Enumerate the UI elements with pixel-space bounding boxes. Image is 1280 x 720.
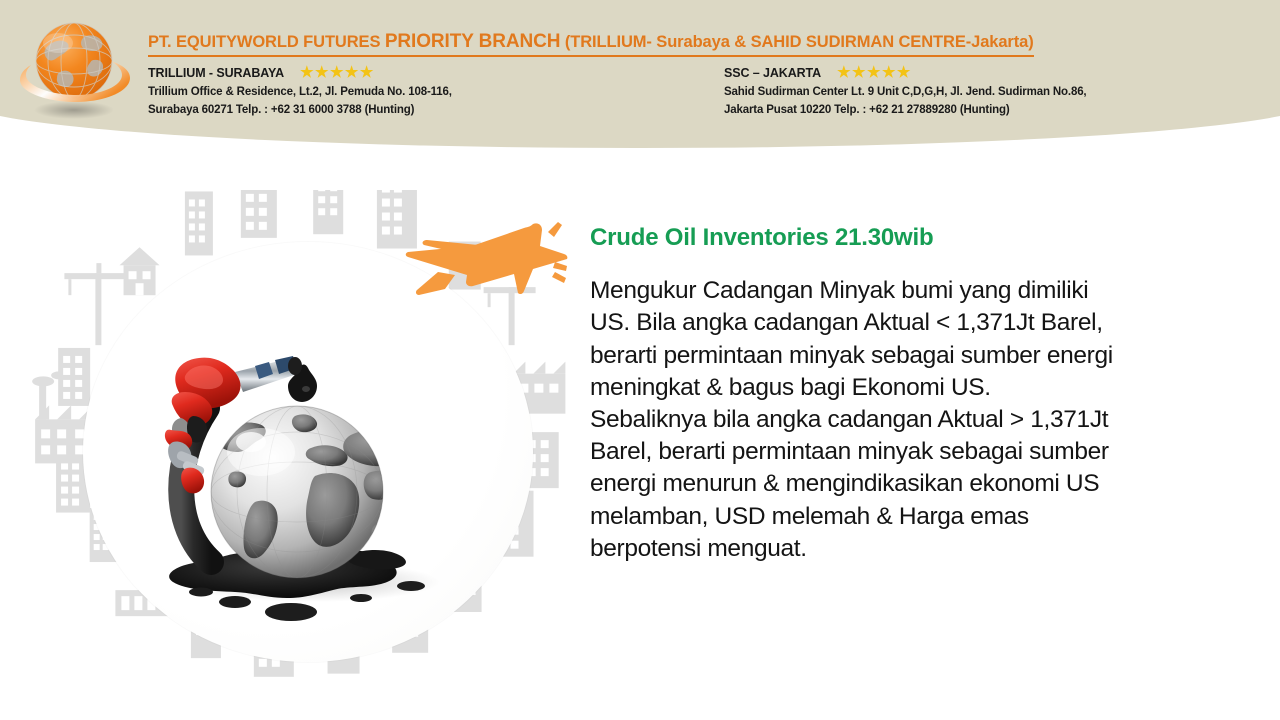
body-line: melamban, USD melemah & Harga emas xyxy=(590,501,1258,533)
content-panel: Crude Oil Inventories 21.30wib Mengukur … xyxy=(590,222,1258,565)
branch-address-line1: Trillium Office & Residence, Lt.2, Jl. P… xyxy=(148,83,724,101)
branch-address: Trillium Office & Residence, Lt.2, Jl. P… xyxy=(148,83,724,119)
branch-info-columns: TRILLIUM - SURABAYA ★★★★★ Trillium Offic… xyxy=(148,64,1268,119)
body-line: berpotensi menguat. xyxy=(590,533,1258,565)
branch-name: SSC – JAKARTA xyxy=(724,66,821,80)
branch-address-line2: Jakarta Pusat 10220 Telp. : +62 21 27889… xyxy=(724,101,1086,119)
body-line: US. Bila angka cadangan Aktual < 1,371Jt… xyxy=(590,307,1258,339)
star-rating-icon: ★★★★★ xyxy=(837,65,912,80)
branch-address: Sahid Sudirman Center Lt. 9 Unit C,D,G,H… xyxy=(724,83,1086,119)
company-logo xyxy=(12,14,140,124)
body-line: energi menurun & mengindikasikan ekonomi… xyxy=(590,468,1258,500)
body-line: Mengukur Cadangan Minyak bumi yang dimil… xyxy=(590,275,1258,307)
content-title: Crude Oil Inventories 21.30wib xyxy=(590,222,1258,253)
branch-address-line2: Surabaya 60271 Telp. : +62 31 6000 3788 … xyxy=(148,101,724,119)
body-line: meningkat & bagus bagi Ekonomi US. xyxy=(590,372,1258,404)
crude-oil-illustration xyxy=(25,190,585,720)
slide-header: PT. EQUITYWORLD FUTURES PRIORITY BRANCH … xyxy=(0,0,1280,148)
header-headline-wrap: PT. EQUITYWORLD FUTURES PRIORITY BRANCH … xyxy=(148,30,1268,57)
branch-address-line1: Sahid Sudirman Center Lt. 9 Unit C,D,G,H… xyxy=(724,83,1086,101)
headline-locations: (TRILLIUM- Surabaya & SAHID SUDIRMAN CEN… xyxy=(560,33,1033,51)
branch-header: TRILLIUM - SURABAYA ★★★★★ xyxy=(148,64,724,81)
branch-trillium-surabaya: TRILLIUM - SURABAYA ★★★★★ Trillium Offic… xyxy=(148,64,724,119)
page-title: PT. EQUITYWORLD FUTURES PRIORITY BRANCH … xyxy=(148,30,1034,57)
headline-company: PT. EQUITYWORLD FUTURES xyxy=(148,33,385,51)
content-body: Mengukur Cadangan Minyak bumi yang dimil… xyxy=(590,275,1258,565)
orange-globe-logo-icon xyxy=(12,14,140,124)
branch-name: TRILLIUM - SURABAYA xyxy=(148,66,284,80)
branch-header: SSC – JAKARTA ★★★★★ xyxy=(724,64,1086,81)
body-line: Barel, berarti permintaan minyak sebagai… xyxy=(590,436,1258,468)
headline-priority-branch: PRIORITY BRANCH xyxy=(385,31,561,52)
body-line: Sebaliknya bila angka cadangan Aktual > … xyxy=(590,404,1258,436)
branch-ssc-jakarta: SSC – JAKARTA ★★★★★ Sahid Sudirman Cente… xyxy=(724,64,1086,119)
body-line: berarti permintaan minyak sebagai sumber… xyxy=(590,340,1258,372)
globe-nozzle-oil-group xyxy=(115,290,495,670)
star-rating-icon: ★★★★★ xyxy=(300,65,375,80)
